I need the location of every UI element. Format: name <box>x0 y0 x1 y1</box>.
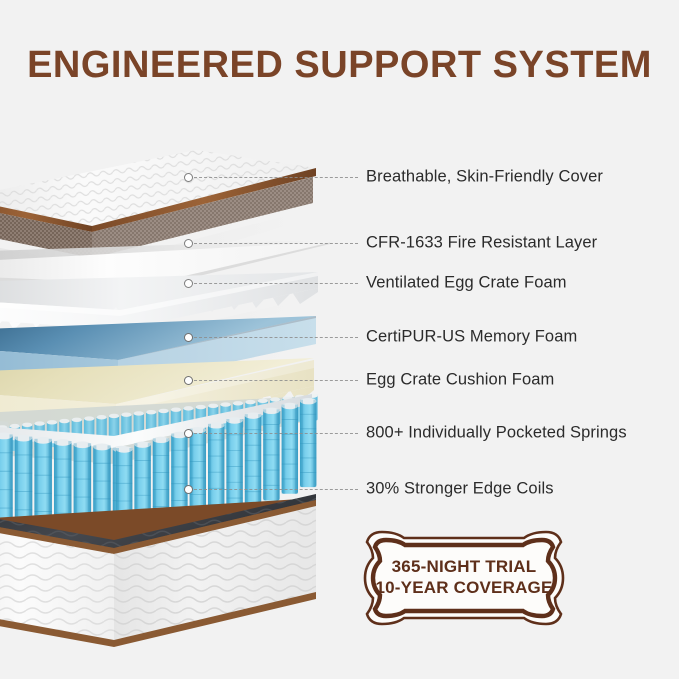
leader-line <box>194 337 358 339</box>
layer-label-3: Ventilated Egg Crate Foam <box>366 274 567 293</box>
badge-frame-icon <box>358 528 570 628</box>
layer-memory-foam <box>0 316 316 396</box>
layer-fire-barrier <box>0 240 330 288</box>
page-title: ENGINEERED SUPPORT SYSTEM <box>0 44 679 87</box>
layer-label-7: 30% Stronger Edge Coils <box>366 480 554 499</box>
layer-label-4: CertiPUR-US Memory Foam <box>366 328 577 347</box>
layer-label-2: CFR-1633 Fire Resistant Layer <box>366 234 597 253</box>
leader-dot-marker <box>184 485 193 494</box>
leader-line <box>194 177 358 179</box>
leader-dot-marker <box>184 279 193 288</box>
layer-label-5: Egg Crate Cushion Foam <box>366 371 554 390</box>
leader-line <box>194 243 358 245</box>
layer-label-1: Breathable, Skin-Friendly Cover <box>366 168 603 187</box>
leader-line <box>194 283 358 285</box>
leader-line <box>194 380 358 382</box>
infographic-canvas: ENGINEERED SUPPORT SYSTEM <box>0 0 679 679</box>
leader-line <box>194 433 358 435</box>
layer-cushion-foam <box>0 358 314 434</box>
leader-dot-marker <box>184 173 193 182</box>
leader-dot-marker <box>184 239 193 248</box>
layer-cover <box>0 150 316 282</box>
layer-pocketed-springs <box>0 393 318 554</box>
leader-line <box>194 489 358 491</box>
leader-dot-marker <box>184 429 193 438</box>
leader-dot-marker <box>184 376 193 385</box>
guarantee-badge: 365-NIGHT TRIAL 10-YEAR COVERAGE <box>358 528 570 628</box>
leader-dot-marker <box>184 333 193 342</box>
layer-base <box>0 494 316 647</box>
layer-label-6: 800+ Individually Pocketed Springs <box>366 424 627 443</box>
